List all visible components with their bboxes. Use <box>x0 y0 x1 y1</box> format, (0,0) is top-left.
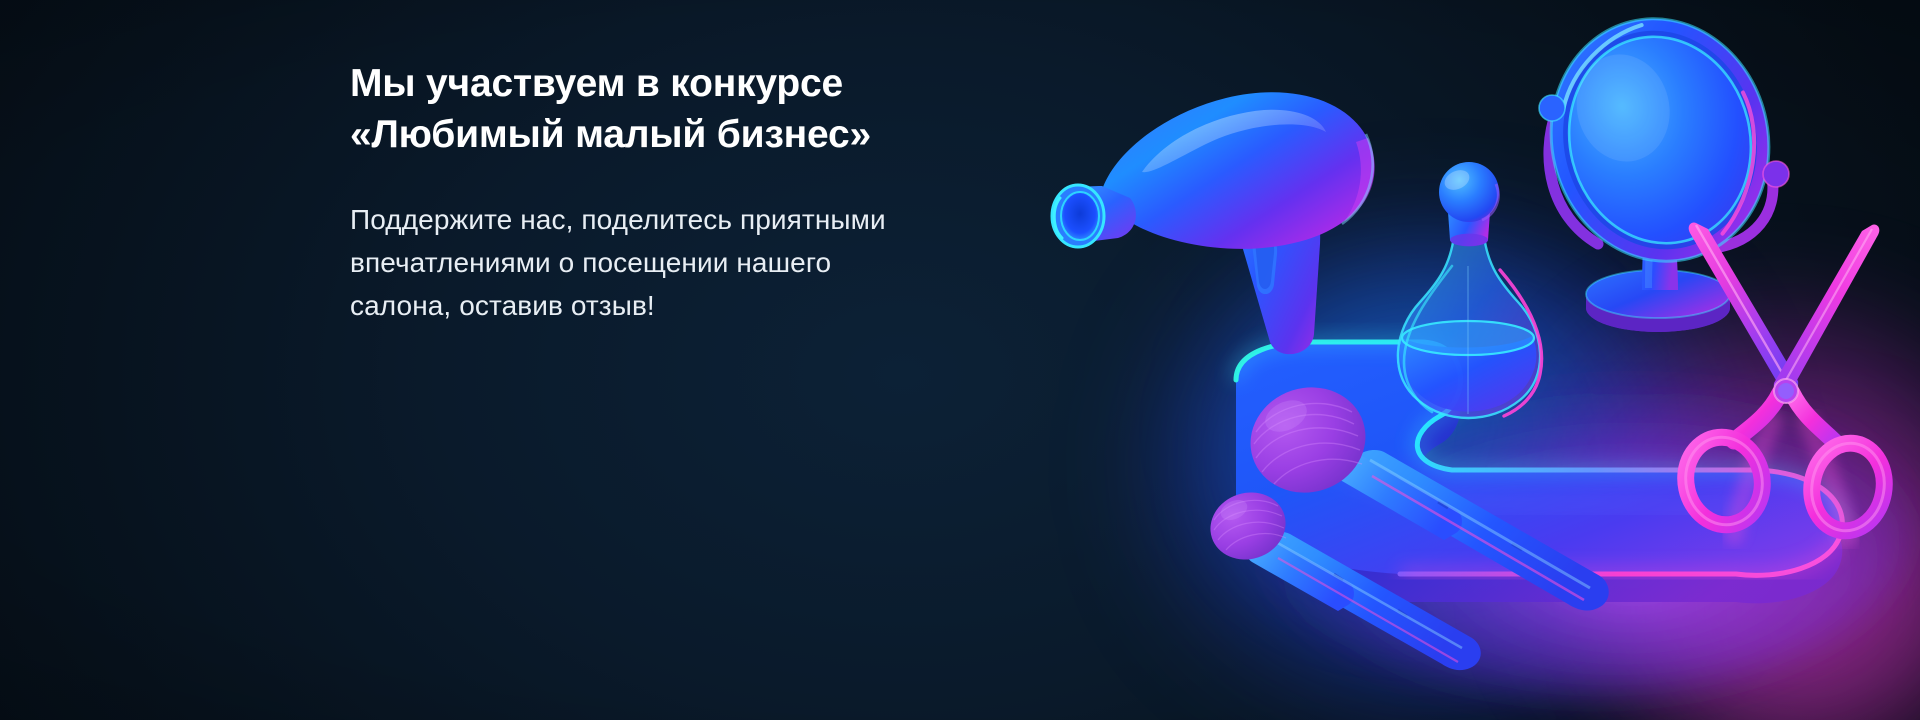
salon-illustration <box>1140 0 1920 720</box>
subcopy-line-1: Поддержите нас, поделитесь приятными <box>350 198 1080 241</box>
subcopy-line-3: салона, оставив отзыв! <box>350 284 1080 327</box>
scissors-illustration <box>1676 215 1906 555</box>
hairdryer-illustration <box>1030 22 1410 362</box>
page-title: Мы участвуем в конкурсе «Любимый малый б… <box>350 58 1080 160</box>
headline-line-1: Мы участвуем в конкурсе <box>350 58 1080 109</box>
banner-description: Поддержите нас, поделитесь приятными впе… <box>350 198 1080 327</box>
promo-banner: Мы участвуем в конкурсе «Любимый малый б… <box>0 0 1920 720</box>
subcopy-line-2: впечатлениями о посещении нашего <box>350 241 1080 284</box>
headline-line-2: «Любимый малый бизнес» <box>350 109 1080 160</box>
banner-copy-block: Мы участвуем в конкурсе «Любимый малый б… <box>350 58 1080 327</box>
makeup-brushes-illustration <box>1212 378 1632 668</box>
